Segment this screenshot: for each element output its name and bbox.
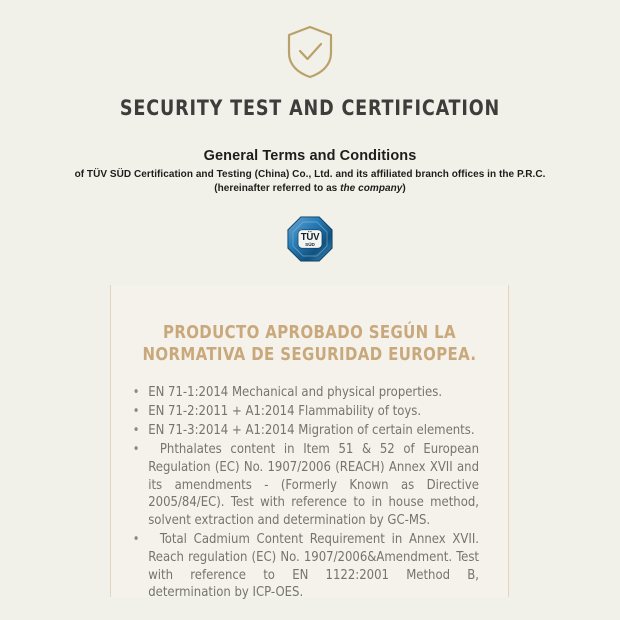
terms-hereinafter-line: (hereinafter referred to as the company) <box>0 183 620 194</box>
page-title: SECURITY TEST AND CERTIFICATION <box>22 96 599 120</box>
tuv-sud-logo: TÜV SÜD <box>287 216 333 262</box>
bullet-icon: • <box>133 403 140 420</box>
bullet-icon: • <box>133 441 140 458</box>
page-header: SECURITY TEST AND CERTIFICATION <box>0 0 620 120</box>
bullet-icon: • <box>133 384 140 401</box>
list-item: •EN 71-1:2014 Mechanical and physical pr… <box>123 384 479 402</box>
hereinafter-prefix: (hereinafter referred to as <box>214 183 340 194</box>
list-item-label: Total Cadmium Content Requirement in Ann… <box>148 532 479 600</box>
certification-panel: PRODUCTO APROBADO SEGÚN LA NORMATIVA DE … <box>110 285 509 597</box>
svg-text:TÜV: TÜV <box>301 232 320 243</box>
hereinafter-italic: the company <box>340 183 402 194</box>
list-item: •Total Cadmium Content Requirement in An… <box>123 531 479 602</box>
terms-block: General Terms and Conditions of TÜV SÜD … <box>0 148 620 194</box>
bullet-icon: • <box>133 422 140 439</box>
list-item: •EN 71-3:2014 + A1:2014 Migration of cer… <box>123 422 479 440</box>
shield-check-icon <box>284 24 336 80</box>
logo-container: TÜV SÜD <box>0 216 620 266</box>
svg-text:SÜD: SÜD <box>305 241 315 247</box>
list-item-label: EN 71-2:2011 + A1:2014 Flammability of t… <box>148 404 421 419</box>
terms-title: General Terms and Conditions <box>0 148 620 164</box>
list-item-label: Phthalates content in Item 51 & 52 of Eu… <box>148 442 479 528</box>
panel-heading: PRODUCTO APROBADO SEGÚN LA NORMATIVA DE … <box>138 323 481 366</box>
list-item: •EN 71-2:2011 + A1:2014 Flammability of … <box>123 403 479 421</box>
list-item-label: EN 71-1:2014 Mechanical and physical pro… <box>148 385 442 400</box>
list-item-label: EN 71-3:2014 + A1:2014 Migration of cert… <box>148 423 474 438</box>
terms-scope-line: of TÜV SÜD Certification and Testing (Ch… <box>0 169 620 180</box>
panel-heading-line2: NORMATIVA DE SEGURIDAD EUROPEA. <box>142 345 476 365</box>
hereinafter-suffix: ) <box>402 183 405 194</box>
bullet-icon: • <box>133 531 140 548</box>
list-item: •Phthalates content in Item 51 & 52 of E… <box>123 441 479 530</box>
panel-heading-line1: PRODUCTO APROBADO SEGÚN LA <box>163 323 456 343</box>
certification-list: •EN 71-1:2014 Mechanical and physical pr… <box>111 384 508 602</box>
